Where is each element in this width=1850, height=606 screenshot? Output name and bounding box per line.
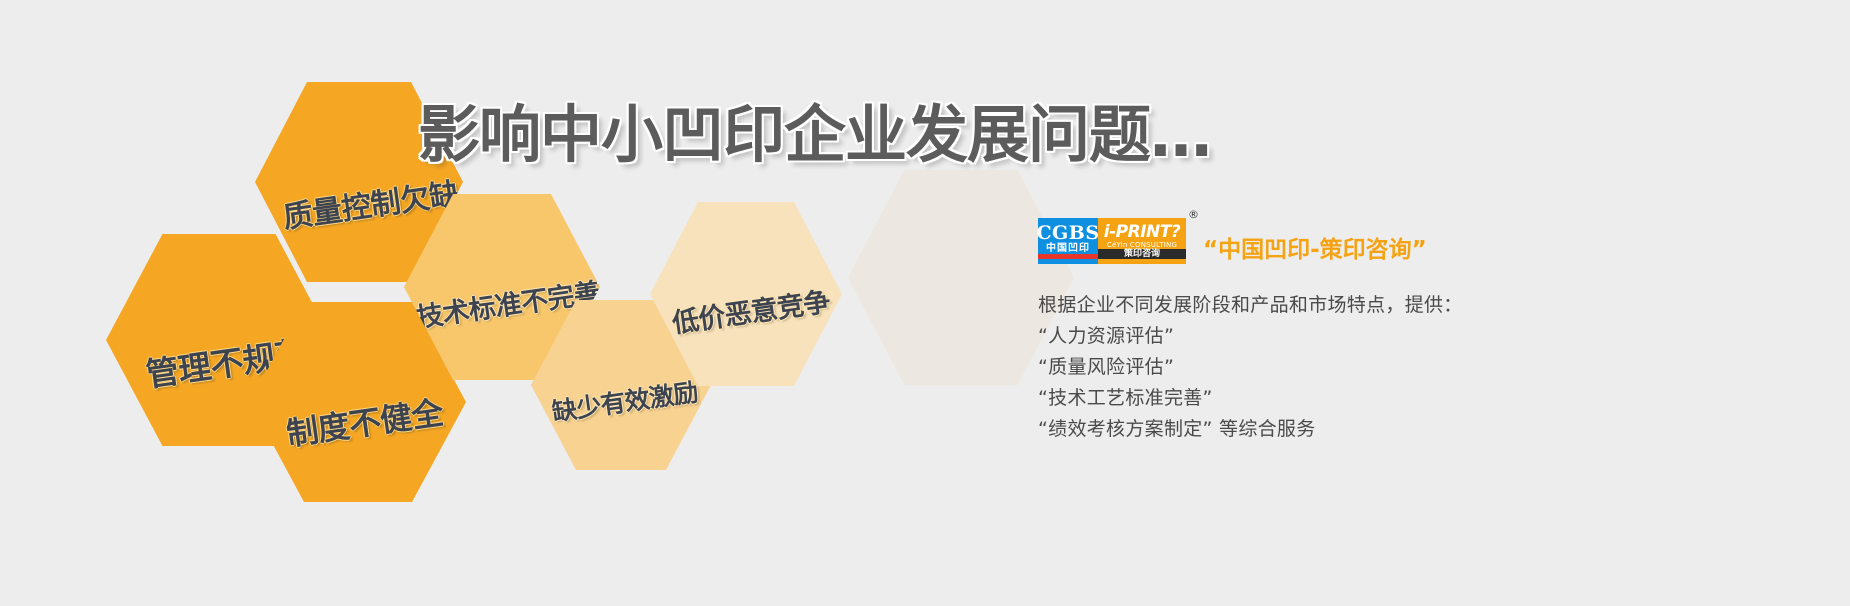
description-line: “质量风险评估” [1038,352,1598,383]
hexagon-label: 质量控制欠缺 [279,169,460,237]
service-description: 根据企业不同发展阶段和产品和市场特点，提供： “人力资源评估” “质量风险评估”… [1038,290,1598,445]
cgbs-abbr-text: CGBS [1036,223,1099,243]
iprint-en-text: CéYin CONSULTING [1107,241,1177,249]
description-line: 根据企业不同发展阶段和产品和市场特点，提供： [1038,290,1598,321]
cgbs-cn-text: 中国凹印 [1046,243,1090,254]
brand-row: CGBS 中国凹印 i-PRINT? CéYin CONSULTING 策印咨询… [1038,210,1598,264]
iprint-logo: i-PRINT? CéYin CONSULTING 策印咨询 [1098,218,1186,264]
slide-canvas: 管理不规范 质量控制欠缺 制度不健全 技术标准不完善 缺少有效激励 低价恶意竞争… [0,0,1850,606]
cgbs-red-bar [1038,254,1098,259]
hexagon-label: 制度不健全 [284,388,446,455]
registered-trademark-icon: ® [1188,208,1199,221]
description-line: “人力资源评估” [1038,321,1598,352]
brand-title: “中国凹印-策印咨询” [1203,230,1427,264]
description-line: “技术工艺标准完善” [1038,383,1598,414]
right-info-panel: CGBS 中国凹印 i-PRINT? CéYin CONSULTING 策印咨询… [1038,210,1598,445]
hexagon-label: 低价恶意竞争 [669,279,832,340]
hexagon-label: 缺少有效激励 [550,373,701,429]
iprint-abbr-text: i-PRINT? [1104,223,1180,241]
description-line: “绩效考核方案制定” 等综合服务 [1038,414,1598,445]
slide-title: 影响中小凹印企业发展问题… [418,84,1211,174]
iprint-cn-text: 策印咨询 [1098,249,1186,259]
cgbs-logo: CGBS 中国凹印 [1038,218,1098,264]
